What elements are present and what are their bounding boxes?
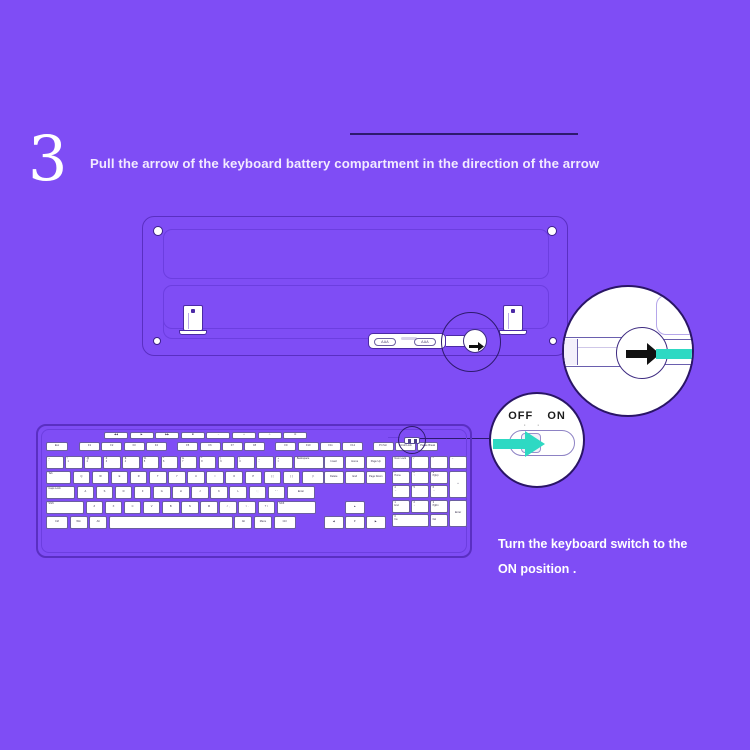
key-alt-2[interactable]: Alt — [89, 516, 107, 529]
key-k[interactable]: K — [210, 486, 228, 499]
key-f[interactable]: F — [134, 486, 152, 499]
key-e[interactable]: E — [111, 471, 129, 484]
key-r[interactable]: R — [130, 471, 148, 484]
key-shift-row-11[interactable]: Shift — [277, 501, 316, 514]
media-key-3[interactable]: ■ — [181, 432, 205, 439]
key-numpad-dot[interactable]: .Del — [430, 514, 448, 527]
key-F5[interactable]: F5 — [177, 442, 198, 451]
switch-off-label: OFF — [508, 410, 533, 422]
key-i[interactable]: I — [206, 471, 224, 484]
key-F7[interactable]: F7 — [222, 442, 243, 451]
foot-stand-right — [503, 305, 523, 331]
caption-line-1: Turn the keyboard switch to the — [498, 532, 738, 557]
key-shift-row-10[interactable]: ? / — [258, 501, 276, 514]
battery-compartment-cover[interactable]: AAA AAA — [368, 333, 446, 349]
key-alt-4[interactable]: Alt — [234, 516, 252, 529]
key-nav-2[interactable]: Page Up — [366, 456, 386, 469]
key-shift-row-6[interactable]: N — [181, 501, 199, 514]
key-numpad-6[interactable]: 9PgUp — [430, 471, 448, 484]
key-arrow-right[interactable]: ▶ — [366, 516, 386, 529]
media-key-0[interactable]: ◀◀ — [104, 432, 128, 439]
key-numpad-0[interactable]: Num Lock — [392, 456, 410, 469]
key-num-7[interactable]: &7 — [180, 456, 198, 469]
key-p[interactable]: P — [245, 471, 263, 484]
key-shift-row-3[interactable]: C — [124, 501, 142, 514]
key-nav-0[interactable]: Insert — [324, 456, 344, 469]
key-numpad-11[interactable]: 1End — [392, 500, 410, 513]
key-numpad-9[interactable]: 5 — [411, 485, 429, 498]
key-num-12[interactable]: += — [275, 456, 293, 469]
back-panel-upper-recess — [163, 229, 549, 279]
media-key-7[interactable]: ✉ — [283, 432, 307, 439]
key-shift-row-0[interactable]: Shift — [46, 501, 84, 514]
key-numpad-13[interactable]: 3PgDn — [430, 500, 448, 513]
key-F3[interactable]: F3 — [124, 442, 145, 451]
key-numpad-zero[interactable]: 0Ins — [392, 514, 429, 527]
right-arrow-icon — [469, 338, 484, 356]
key-num-6[interactable]: ^6 — [161, 456, 179, 469]
key-menu-5[interactable]: Menu — [254, 516, 272, 529]
screw-hole-top-left — [153, 226, 163, 236]
key-F11[interactable]: F11 — [320, 442, 341, 451]
key-t[interactable]: T — [149, 471, 167, 484]
key-l[interactable]: L — [229, 486, 247, 499]
key-num-1[interactable]: !1 — [65, 456, 83, 469]
key-o[interactable]: O — [225, 471, 243, 484]
key-num-8[interactable]: *8 — [199, 456, 217, 469]
key-enter[interactable]: Enter — [287, 486, 316, 499]
key-num-13[interactable]: Backspace — [294, 456, 324, 469]
key-shift-row-7[interactable]: M — [200, 501, 218, 514]
key-nav-5[interactable]: Page Down — [366, 471, 386, 484]
key-num-4[interactable]: $4 — [122, 456, 140, 469]
key-s[interactable]: S — [96, 486, 114, 499]
key-numpad-plus[interactable]: + — [449, 471, 467, 499]
key-j[interactable]: J — [191, 486, 209, 499]
key-shift-row-5[interactable]: B — [162, 501, 180, 514]
key-numpad-10[interactable]: 6→ — [430, 485, 448, 498]
key-ctrl-6[interactable]: Ctrl — [274, 516, 296, 529]
key-arrow-down[interactable]: ▼ — [345, 516, 365, 529]
key-ctrl-0[interactable]: Ctrl — [46, 516, 68, 529]
latch-arrow-badge — [463, 329, 487, 353]
key-num-2[interactable]: @2 — [84, 456, 102, 469]
key-capslock[interactable]: Caps Lock — [46, 486, 75, 499]
key-F9[interactable]: F9 — [275, 442, 296, 451]
media-key-4[interactable]: − — [206, 432, 230, 439]
key-num-11[interactable]: _- — [256, 456, 274, 469]
key-F10[interactable]: F10 — [298, 442, 319, 451]
key-esc[interactable]: Esc — [46, 442, 68, 451]
key-tab[interactable]: Tab — [46, 471, 71, 484]
key-nav-3[interactable]: Delete — [324, 471, 344, 484]
key-numpad-3[interactable]: − — [449, 456, 467, 469]
illustration-stage: 3 Pull the arrow of the keyboard battery… — [0, 0, 750, 750]
key-d[interactable]: D — [115, 486, 133, 499]
key-numpad-4[interactable]: 7Home — [392, 471, 410, 484]
key-h[interactable]: H — [172, 486, 190, 499]
key-u[interactable]: U — [187, 471, 205, 484]
key-"'[interactable]: " ' — [268, 486, 286, 499]
key-numpad-8[interactable]: 4← — [392, 485, 410, 498]
key-F12[interactable]: F12 — [342, 442, 363, 451]
key-F2[interactable]: F2 — [101, 442, 122, 451]
key-:;[interactable]: : ; — [249, 486, 267, 499]
key-shift-row-2[interactable]: X — [105, 501, 123, 514]
key-numpad-enter[interactable]: Enter — [449, 500, 467, 528]
media-key-6[interactable]: ⌂ — [258, 432, 282, 439]
key-y[interactable]: Y — [168, 471, 186, 484]
teal-right-arrow-icon — [656, 337, 694, 376]
key-F6[interactable]: F6 — [200, 442, 221, 451]
battery-cell-2: AAA — [414, 338, 436, 346]
media-key-2[interactable]: ▶▶ — [155, 432, 179, 439]
magnified-panel-corner — [656, 295, 694, 335]
caption-line-2: ON position . — [498, 557, 738, 582]
screw-hole-bottom-left — [153, 337, 161, 345]
power-switch-magnifier: OFF ON ·· — [489, 392, 585, 488]
key-num-0[interactable]: ~` — [46, 456, 64, 469]
key-arrow-up[interactable]: ▲ — [345, 501, 365, 514]
key-F1[interactable]: F1 — [79, 442, 100, 451]
foot-stand-hinge — [188, 313, 193, 329]
key-|\[interactable]: | \ — [302, 471, 325, 484]
key-{[[interactable]: { [ — [264, 471, 282, 484]
key-w[interactable]: W — [92, 471, 110, 484]
foot-stand-hinge — [508, 313, 513, 329]
magnified-cover-tail — [562, 339, 578, 365]
switch-on-label: ON — [547, 410, 566, 422]
key-}][interactable]: } ] — [283, 471, 301, 484]
key-arrow-left[interactable]: ◀ — [324, 516, 344, 529]
battery-latch-magnifier — [562, 285, 694, 417]
teal-right-arrow-icon — [493, 430, 545, 463]
key-F8[interactable]: F8 — [244, 442, 265, 451]
keyboard-switch-body[interactable] — [404, 437, 420, 444]
key-F4[interactable]: F4 — [146, 442, 167, 451]
key-numpad-5[interactable]: 8↑ — [411, 471, 429, 484]
step-instruction-text: Pull the arrow of the keyboard battery c… — [90, 156, 599, 171]
key-shift-row-8[interactable]: < , — [219, 501, 237, 514]
switch-tick-marks: ·· — [491, 422, 583, 429]
key-q[interactable]: Q — [73, 471, 91, 484]
key-nav-1[interactable]: Home — [345, 456, 365, 469]
switch-position-labels: OFF ON — [491, 410, 583, 422]
foot-stand-left — [183, 305, 203, 331]
key-shift-row-1[interactable]: Z — [86, 501, 104, 514]
key-shift-row-4[interactable]: V — [143, 501, 161, 514]
key-space-3[interactable] — [109, 516, 233, 529]
switch-caption: Turn the keyboard switch to the ON posit… — [498, 532, 738, 582]
key-num-5[interactable]: %5 — [142, 456, 160, 469]
media-key-1[interactable]: ▶ — [130, 432, 154, 439]
key-numpad-12[interactable]: 2↓ — [411, 500, 429, 513]
key-g[interactable]: G — [153, 486, 171, 499]
screw-hole-bottom-right — [549, 337, 557, 345]
key-shift-row-9[interactable]: > . — [238, 501, 256, 514]
key-a[interactable]: A — [77, 486, 95, 499]
key-num-3[interactable]: #3 — [103, 456, 121, 469]
screw-hole-top-right — [547, 226, 557, 236]
magnifier-leader-line — [350, 133, 578, 135]
key-num-9[interactable]: (9 — [218, 456, 236, 469]
media-key-5[interactable]: + — [232, 432, 256, 439]
keyboard-power-switch-icon[interactable] — [398, 426, 426, 454]
keyboard-back-panel: AAA AAA — [142, 216, 568, 356]
key-num-10[interactable]: )0 — [237, 456, 255, 469]
battery-cell-1: AAA — [374, 338, 396, 346]
step-number: 3 — [28, 128, 66, 190]
key-numpad-1[interactable]: / — [411, 456, 429, 469]
key-nav-4[interactable]: End — [345, 471, 365, 484]
key-win-1[interactable]: Win — [70, 516, 88, 529]
key-numpad-2[interactable]: * — [430, 456, 448, 469]
key-fn-extra-13[interactable]: Prt Scr — [373, 442, 394, 451]
